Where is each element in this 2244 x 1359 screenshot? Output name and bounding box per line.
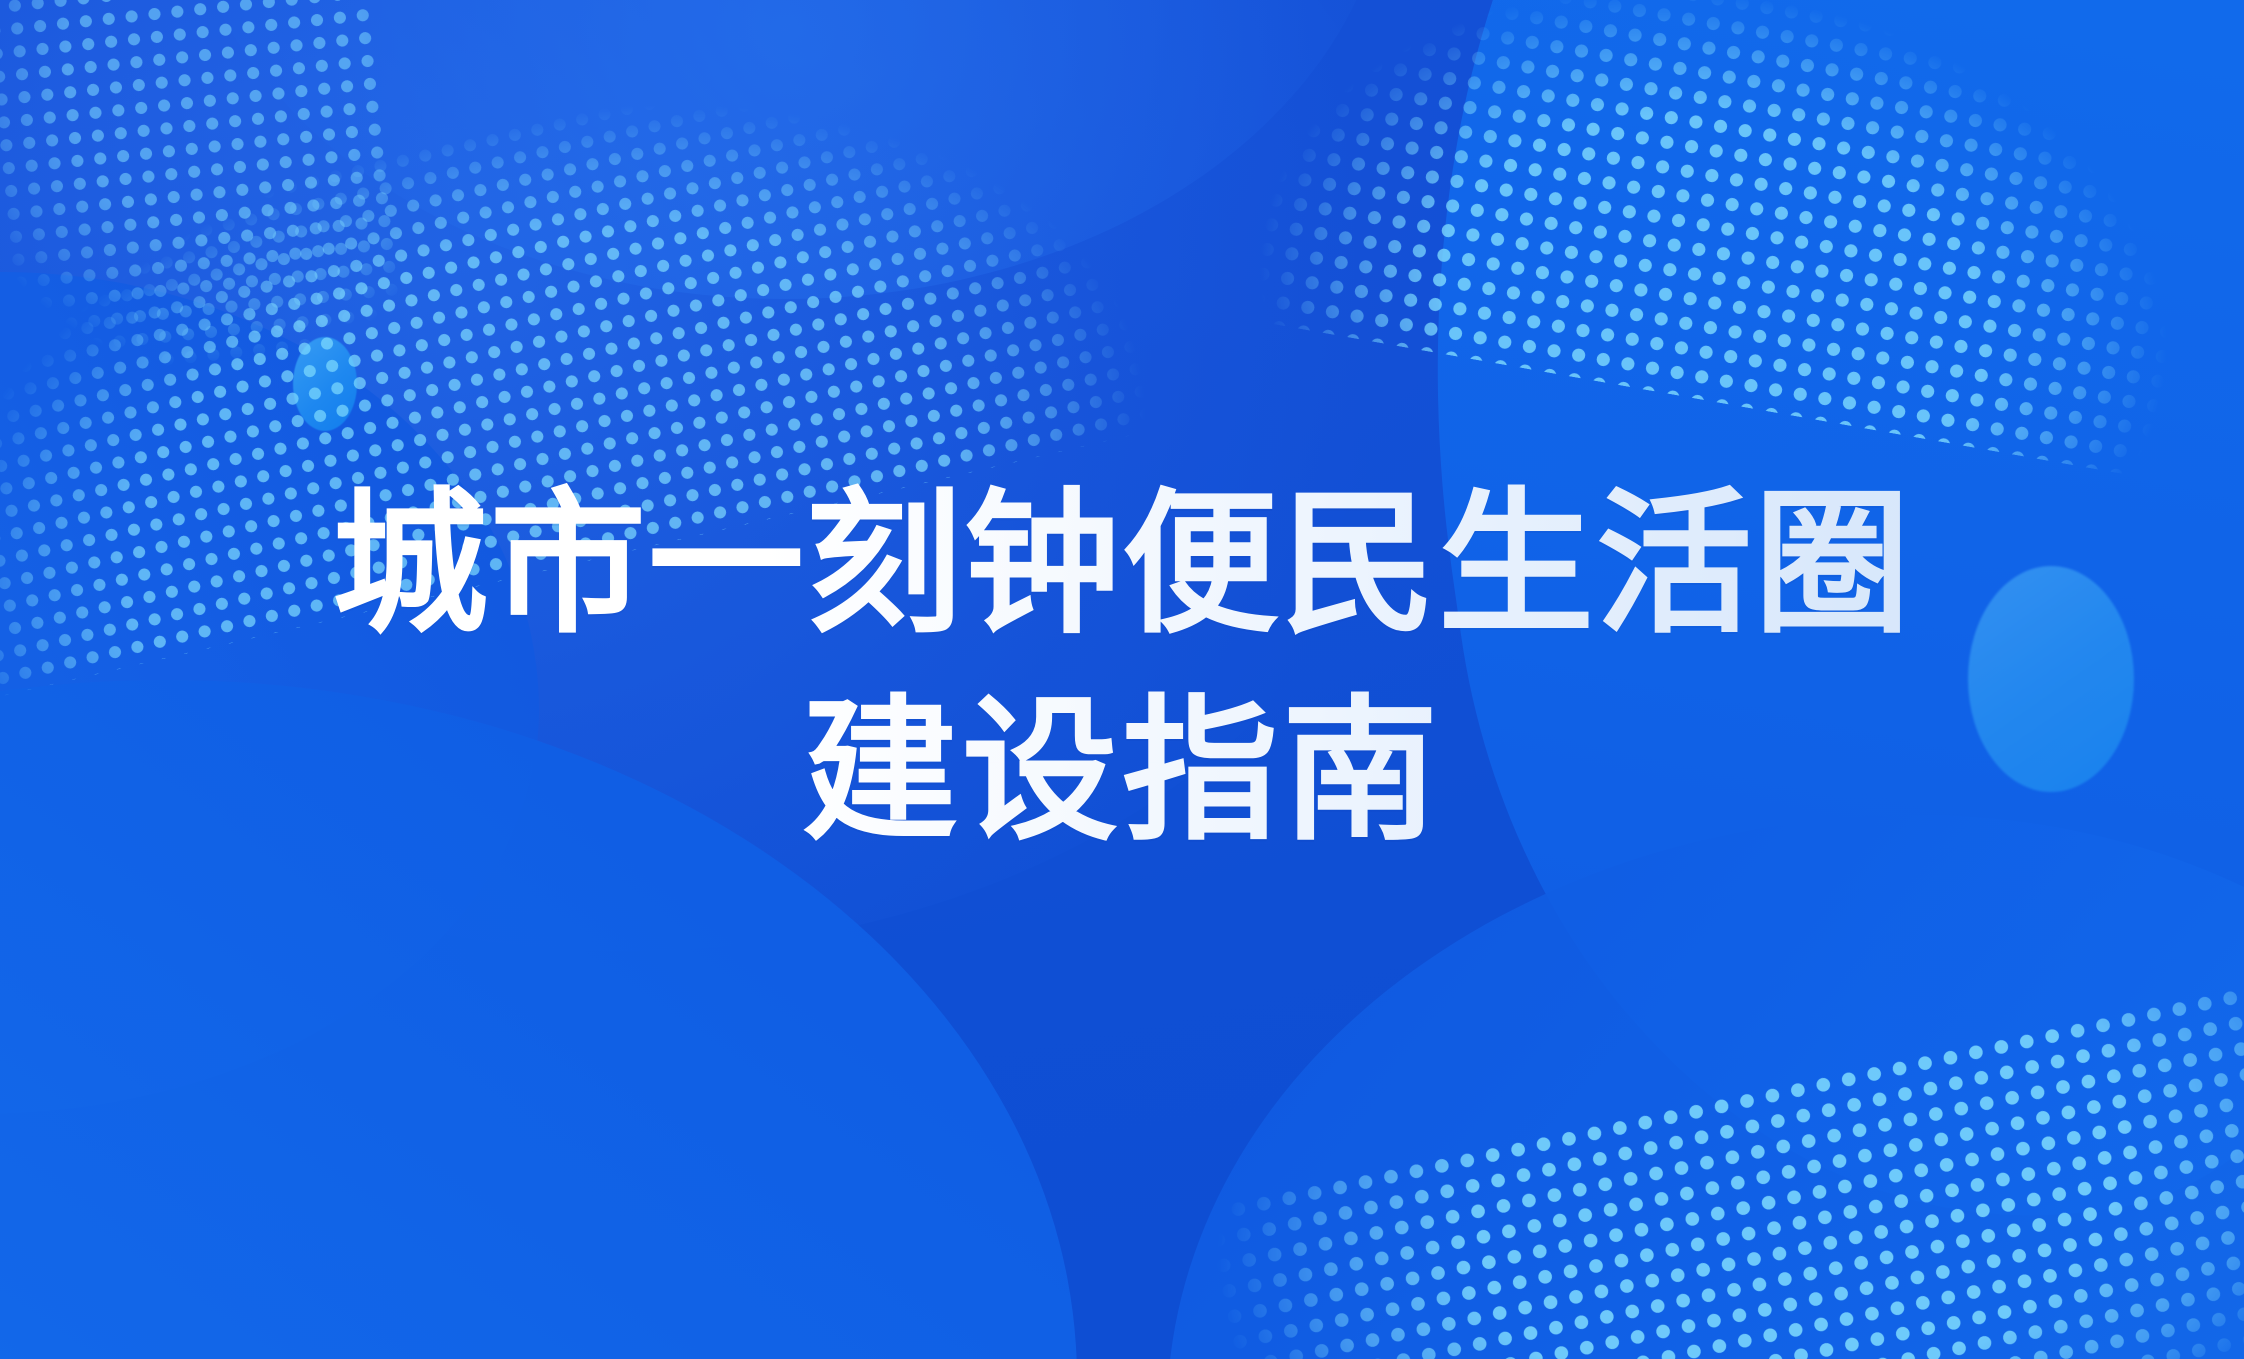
title-line-1: 城市一刻钟便民生活圈 — [0, 462, 2244, 669]
poster-canvas: 城市一刻钟便民生活圈 建设指南 — [0, 0, 2244, 1359]
poster-title: 城市一刻钟便民生活圈 建设指南 — [0, 462, 2244, 877]
title-line-2: 建设指南 — [0, 669, 2244, 876]
